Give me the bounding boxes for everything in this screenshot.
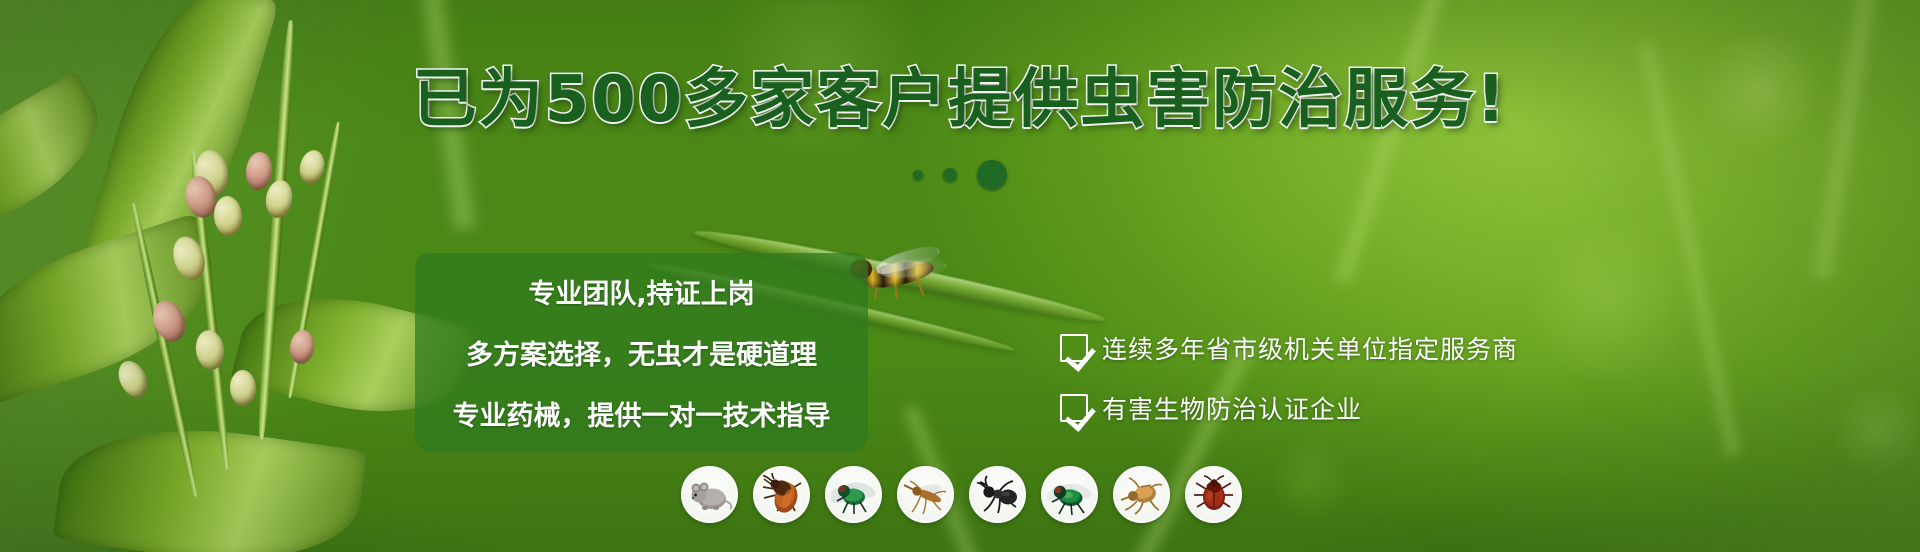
checklist-item-label: 有害生物防治认证企业 <box>1102 390 1362 426</box>
headline-dot-group <box>0 160 1920 190</box>
checklist-item: 有害生物防治认证企业 <box>1060 390 1518 426</box>
cockroach-icon[interactable] <box>753 466 810 523</box>
checkbox-checked-icon <box>1060 334 1088 362</box>
flea-icon[interactable] <box>1113 466 1170 523</box>
plant-leaf <box>52 410 367 552</box>
plant-bud <box>193 328 226 372</box>
feature-line-1: 专业团队,持证上岗 <box>425 272 858 311</box>
dot-medium-icon <box>943 168 957 182</box>
greenbottle-fly-icon[interactable] <box>1041 466 1098 523</box>
credentials-checklist: 连续多年省市级机关单位指定服务商 有害生物防治认证企业 <box>1060 330 1518 426</box>
plant-bud <box>229 370 256 407</box>
plant-bud <box>213 195 244 237</box>
pest-icon-row <box>681 466 1242 523</box>
feature-line-2: 多方案选择，无虫才是硬道理 <box>425 333 858 372</box>
promo-banner: 已为500多家客户提供虫害防治服务! 专业团队,持证上岗 多方案选择，无虫才是硬… <box>0 0 1920 552</box>
banner-headline-text: 已为500多家客户提供虫害防治服务! <box>413 63 1508 137</box>
mosquito-icon[interactable] <box>897 466 954 523</box>
housefly-icon[interactable] <box>825 466 882 523</box>
hoverfly-leg <box>916 279 925 296</box>
banner-headline: 已为500多家客户提供虫害防治服务! <box>0 68 1920 132</box>
checklist-item: 连续多年省市级机关单位指定服务商 <box>1060 330 1518 366</box>
bedbug-icon[interactable] <box>1185 466 1242 523</box>
features-panel-text: 专业团队,持证上岗 多方案选择，无虫才是硬道理 专业药械，提供一对一技术指导 <box>415 253 868 451</box>
mouse-icon[interactable] <box>681 466 738 523</box>
plant-bud <box>113 356 153 402</box>
checkbox-checked-icon <box>1060 394 1088 422</box>
ant-icon[interactable] <box>969 466 1026 523</box>
dot-large-icon <box>977 160 1007 190</box>
feature-line-3: 专业药械，提供一对一技术指导 <box>425 394 858 433</box>
dot-small-icon <box>913 170 923 180</box>
checklist-item-label: 连续多年省市级机关单位指定服务商 <box>1102 330 1518 366</box>
